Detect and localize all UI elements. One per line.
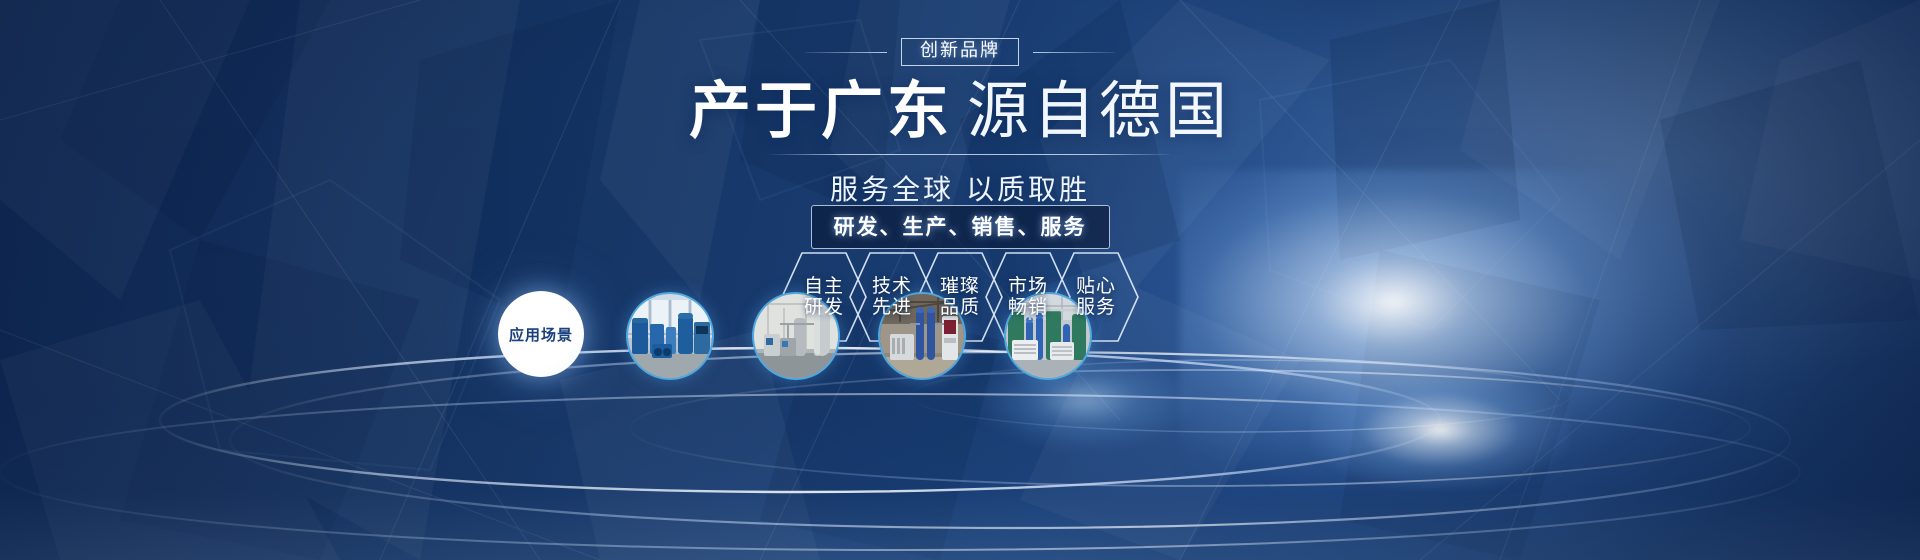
hexagon-label: 璀璨 品质 [940, 276, 980, 317]
promo-banner: 创新品牌 产于广东源自德国 服务全球 以质取胜 研发、生产、销售、服务 自主 研… [0, 0, 1920, 560]
hexagon-label: 技术 先进 [872, 276, 912, 317]
badge-rule-right [1033, 52, 1115, 53]
headline-primary: 产于广东 [689, 74, 953, 147]
hexagon-label: 贴心 服务 [1076, 276, 1116, 317]
headline-divider [770, 154, 1170, 155]
badge-rule-left [805, 52, 887, 53]
tagline-label: 研发、生产、销售、服务 [834, 215, 1087, 239]
application-scene-label: 应用场景 [509, 324, 573, 345]
application-photo-1[interactable] [626, 292, 714, 380]
badge-label: 创新品牌 [920, 40, 1000, 61]
subtitle: 服务全球 以质取胜 [0, 168, 1920, 208]
application-scene-circle[interactable]: 应用场景 [498, 291, 584, 377]
hexagon-label: 自主 研发 [804, 276, 844, 317]
tagline-row: 研发、生产、销售、服务 [0, 205, 1920, 249]
hexagon-label: 市场 畅销 [1008, 276, 1048, 317]
page-title: 产于广东源自德国 [0, 60, 1920, 150]
headline-secondary: 源自德国 [967, 74, 1231, 147]
tagline-box: 研发、生产、销售、服务 [811, 205, 1110, 249]
photo-thumbnail-air-compressor-room [628, 294, 712, 378]
